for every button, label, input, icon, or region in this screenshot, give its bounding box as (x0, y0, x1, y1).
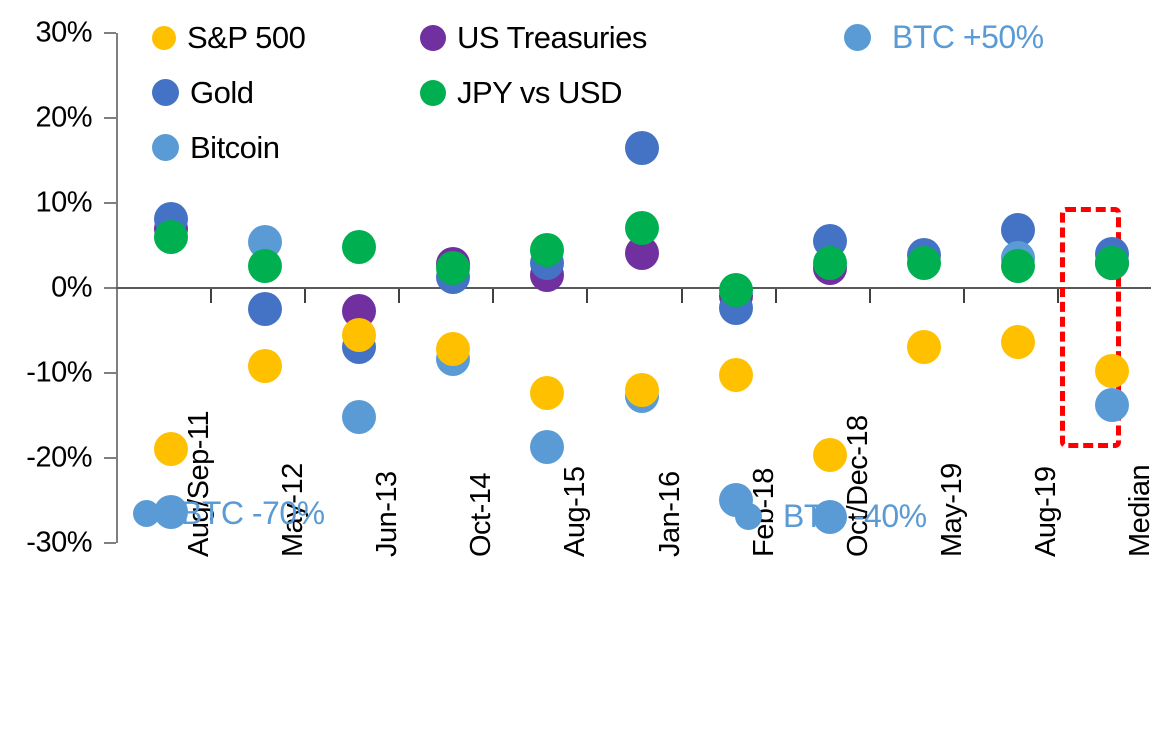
y-axis-label: 0% (51, 272, 92, 305)
data-point (342, 318, 376, 352)
data-point (625, 373, 659, 407)
legend-item-bitcoin[interactable]: Bitcoin (152, 120, 305, 175)
data-point (625, 211, 659, 245)
legend-item-jpy-vs-usd[interactable]: JPY vs USD (420, 65, 647, 120)
legend-column: S&P 500GoldBitcoin (152, 10, 305, 175)
y-axis-tick (104, 287, 116, 289)
data-point (1095, 246, 1129, 280)
data-point (248, 292, 282, 326)
data-point (719, 358, 753, 392)
category-label: Jun-13 (371, 471, 404, 557)
data-point (530, 430, 564, 464)
data-point (436, 251, 470, 285)
y-axis-label: -10% (26, 357, 92, 390)
category-tick (1057, 289, 1059, 303)
category-tick (492, 289, 494, 303)
data-point (813, 438, 847, 472)
data-point (719, 273, 753, 307)
category-label: Aug/Sep-11 (183, 411, 216, 557)
legend-label: S&P 500 (187, 20, 305, 56)
legend-item-gold[interactable]: Gold (152, 65, 305, 120)
legend-swatch-icon (152, 134, 179, 161)
annotation-btc-minus-70: BTC -70% (133, 495, 325, 532)
category-label: May-19 (936, 463, 969, 557)
legend-label: JPY vs USD (457, 75, 622, 111)
category-tick (869, 289, 871, 303)
data-point (1001, 325, 1035, 359)
y-axis-tick (104, 457, 116, 459)
legend-item-us-treasuries[interactable]: US Treasuries (420, 10, 647, 65)
category-tick (398, 289, 400, 303)
legend-label: Bitcoin (190, 130, 280, 166)
category-label: Aug-15 (559, 466, 592, 557)
data-point (625, 131, 659, 165)
legend-swatch-icon (152, 79, 179, 106)
annotation-btc-plus-50: BTC +50% (844, 19, 1044, 56)
y-axis-tick (104, 117, 116, 119)
data-point (248, 349, 282, 383)
y-axis-label: 30% (35, 17, 92, 50)
data-point (154, 220, 188, 254)
data-point (1001, 249, 1035, 283)
data-point (530, 233, 564, 267)
y-axis-tick (104, 32, 116, 34)
y-axis-label: -30% (26, 527, 92, 560)
y-axis-label: 10% (35, 187, 92, 220)
data-point (436, 332, 470, 366)
category-label: Oct/Dec-18 (842, 415, 875, 557)
data-point (248, 249, 282, 283)
category-label: Aug-19 (1030, 466, 1063, 557)
legend-swatch-icon (420, 25, 446, 51)
data-point (907, 330, 941, 364)
y-axis-tick (104, 372, 116, 374)
annotation-marker-icon (844, 24, 871, 51)
data-point (1095, 354, 1129, 388)
annotation-label: BTC +50% (892, 19, 1044, 56)
legend-label: US Treasuries (457, 20, 647, 56)
category-tick (963, 289, 965, 303)
annotation-marker-icon (133, 500, 160, 527)
data-point (342, 230, 376, 264)
annotation-marker-icon (735, 503, 762, 530)
data-point (530, 376, 564, 410)
category-tick (775, 289, 777, 303)
legend-label: Gold (190, 75, 253, 111)
category-tick (210, 289, 212, 303)
data-point (813, 246, 847, 280)
data-point (1095, 388, 1129, 422)
legend-column: US TreasuriesJPY vs USD (420, 10, 647, 120)
y-axis-tick (104, 202, 116, 204)
data-point (907, 246, 941, 280)
category-label: Jan-16 (654, 471, 687, 557)
category-label: Oct-14 (465, 473, 498, 557)
y-axis-label: -20% (26, 442, 92, 475)
data-point (342, 400, 376, 434)
category-tick (681, 289, 683, 303)
y-axis-label: 20% (35, 102, 92, 135)
chart-root: 30%20%10%0%-10%-20%-30% Aug/Sep-11May-12… (0, 0, 1151, 739)
data-point (154, 432, 188, 466)
legend-swatch-icon (152, 26, 176, 50)
annotation-label: BTC -70% (181, 495, 325, 532)
annotation-label: BTC -40% (783, 498, 927, 535)
y-axis-tick (104, 542, 116, 544)
category-label: Median (1124, 465, 1151, 557)
legend-swatch-icon (420, 80, 446, 106)
zero-line (116, 287, 1151, 289)
annotation-btc-minus-40: BTC -40% (735, 498, 927, 535)
category-tick (304, 289, 306, 303)
legend-item-s-p-500[interactable]: S&P 500 (152, 10, 305, 65)
category-tick (586, 289, 588, 303)
